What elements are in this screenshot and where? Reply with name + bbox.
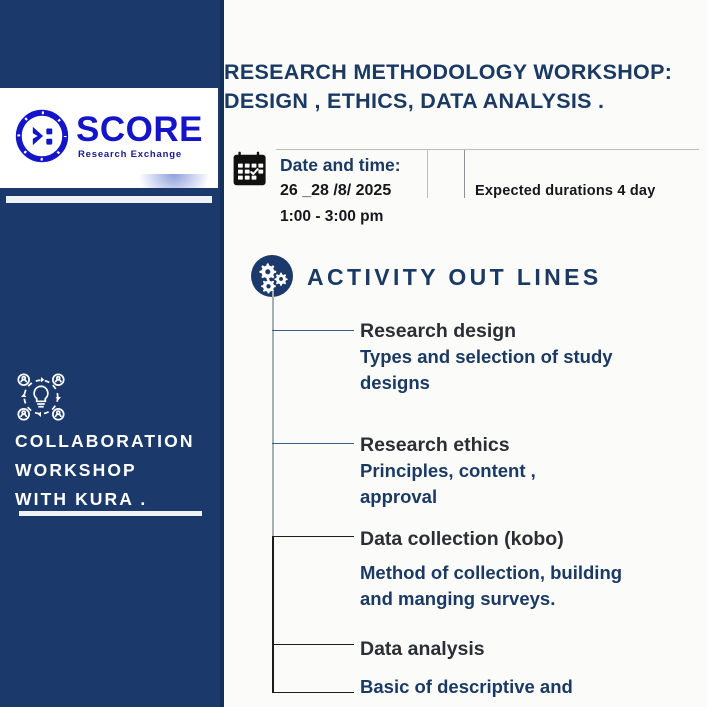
date-value: 26 _28 /8/ 2025 <box>280 178 430 204</box>
timeline-branch-4 <box>272 644 354 645</box>
activity-item-3-title: Data collection (kobo) <box>360 526 705 552</box>
activity-item-3: Data collection (kobo) Method of collect… <box>360 526 705 612</box>
activity-item-3-desc-line-1: Method of collection, building <box>360 560 705 586</box>
collaboration-lightbulb-icon <box>14 370 68 424</box>
collaboration-divider <box>19 511 202 516</box>
title-line-2: DESIGN , ETHICS, DATA ANALYSIS . <box>224 87 694 116</box>
collaboration-line-1: COLLABORATION <box>15 427 215 456</box>
activity-item-4-title: Data analysis <box>360 636 705 662</box>
activity-item-2-title: Research ethics <box>360 432 705 458</box>
collaboration-line-3: WITH KURA . <box>15 485 215 514</box>
activity-outlines-heading: ACTIVITY OUT LINES <box>307 264 602 291</box>
activity-item-4: Data analysis Basic of descriptive and <box>360 636 705 700</box>
page-title: RESEARCH METHODOLOGY WORKSHOP: DESIGN , … <box>224 58 694 116</box>
date-top-divider <box>276 149 699 150</box>
activity-item-1: Research design Types and selection of s… <box>360 318 705 396</box>
activity-item-3-desc-line-2: and manging surveys. <box>360 586 705 612</box>
score-logo-icon <box>15 109 69 163</box>
timeline-branch-3 <box>272 536 354 537</box>
timeline-line-upper <box>272 292 274 536</box>
date-and-time-block: Date and time: 26 _28 /8/ 2025 1:00 - 3:… <box>280 153 430 229</box>
collaboration-line-2: WORKSHOP <box>15 456 215 485</box>
logo-wordmark: SCORE <box>76 112 203 147</box>
activity-item-4-desc-line-1: Basic of descriptive and <box>360 674 705 700</box>
logo-card: SCORE Research Exchange <box>0 88 218 188</box>
activity-item-1-desc-line-2: designs <box>360 370 705 396</box>
timeline-branch-1 <box>272 330 354 331</box>
logo-smudge <box>138 174 210 188</box>
activity-item-1-desc-line-1: Types and selection of study <box>360 344 705 370</box>
timeline-line-lower <box>272 536 274 693</box>
activity-item-2-desc-line-2: approval <box>360 484 705 510</box>
content-panel: RESEARCH METHODOLOGY WORKSHOP: DESIGN , … <box>224 0 707 707</box>
activity-item-2-desc-line-1: Principles, content , <box>360 458 705 484</box>
logo-tagline: Research Exchange <box>78 150 203 160</box>
time-value: 1:00 - 3:00 pm <box>280 204 430 229</box>
gears-icon <box>251 255 293 297</box>
calendar-icon <box>232 150 272 190</box>
collaboration-text: COLLABORATION WORKSHOP WITH KURA . <box>15 427 215 514</box>
date-label: Date and time: <box>280 153 430 178</box>
activity-item-1-title: Research design <box>360 318 705 344</box>
timeline-branch-end <box>272 692 354 693</box>
workshop-poster: SCORE Research Exchange <box>0 0 707 707</box>
activity-item-2: Research ethics Principles, content , ap… <box>360 432 705 510</box>
timeline-branch-2 <box>272 443 354 444</box>
expected-duration: Expected durations 4 day <box>475 183 700 199</box>
logo-underline-strip <box>6 196 212 203</box>
date-divider-right <box>464 150 465 198</box>
title-line-1: RESEARCH METHODOLOGY WORKSHOP: <box>224 58 694 87</box>
